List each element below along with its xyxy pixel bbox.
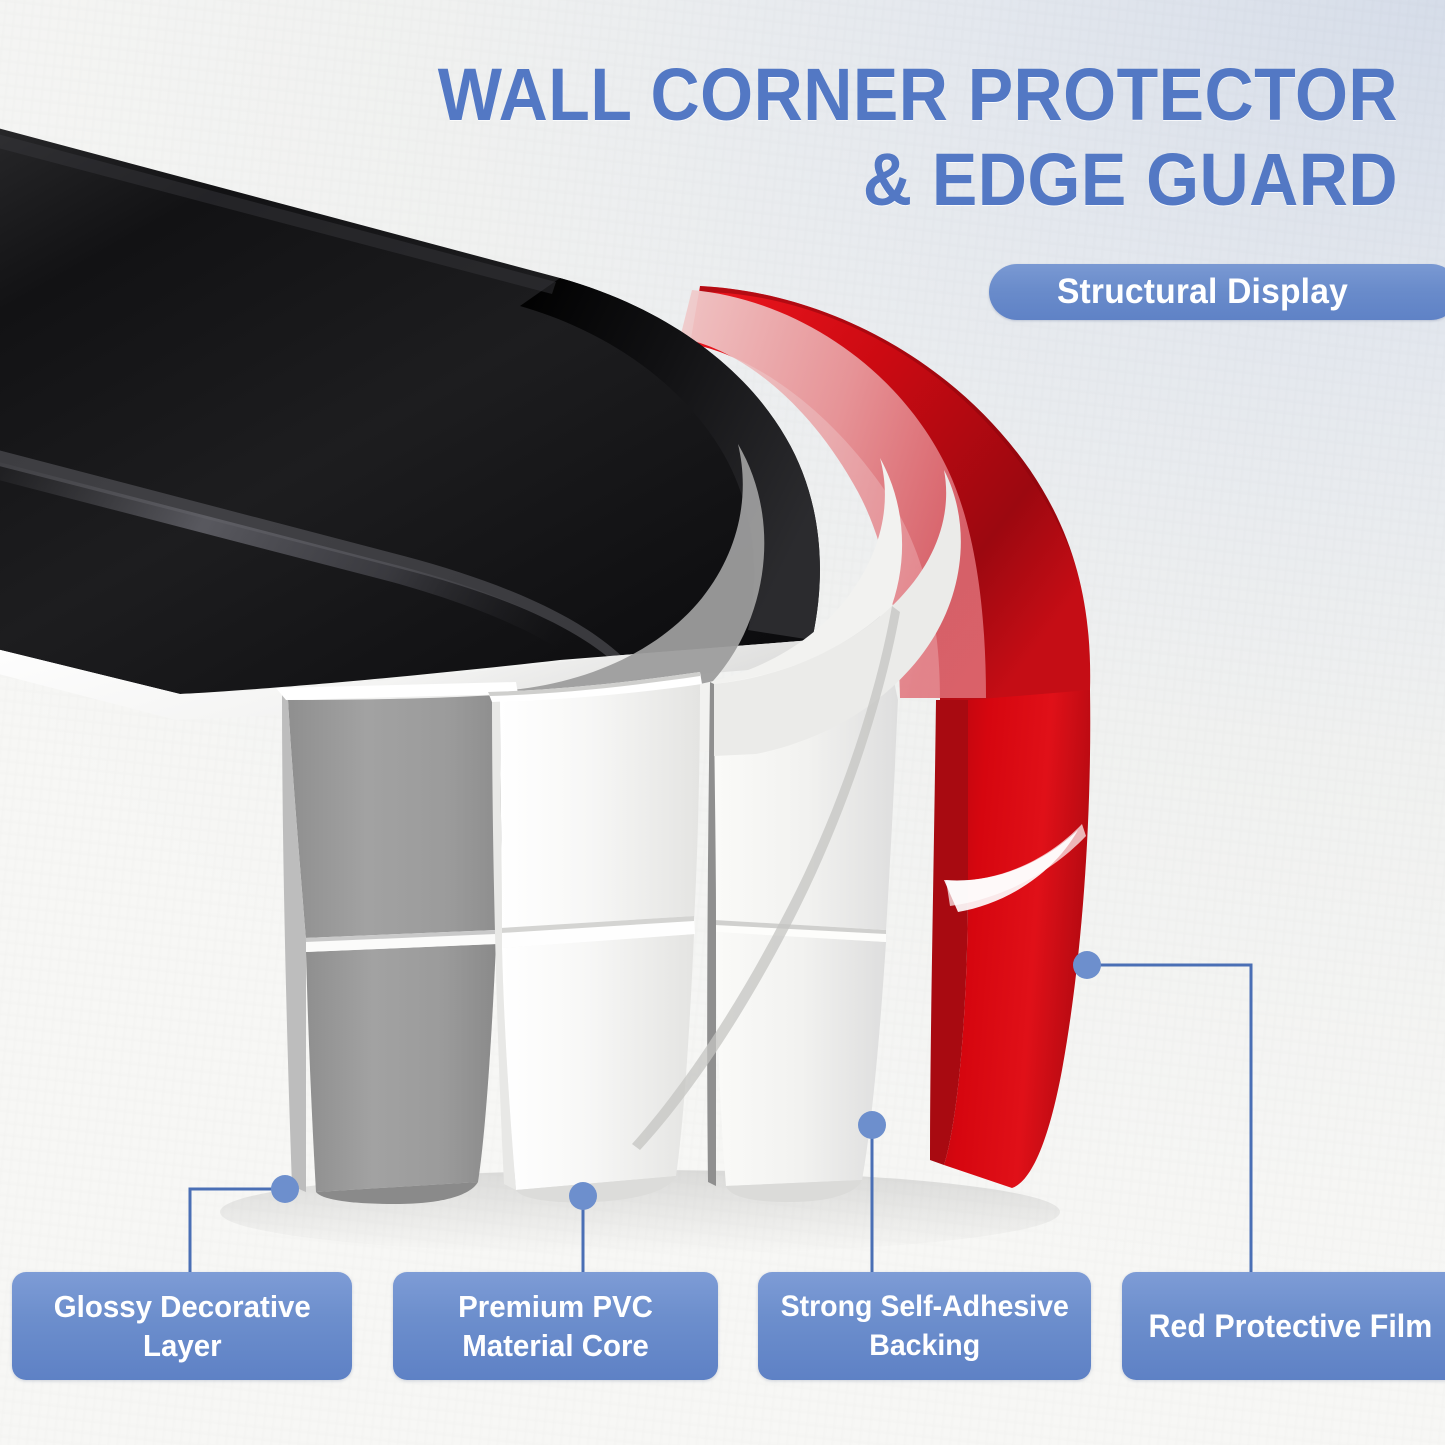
callout-strong-self-adhesive-backing-line-2: Backing [775,1326,1075,1365]
callout-premium-pvc-material-core: Premium PVC Material Core [393,1272,718,1380]
callout-red-protective-film-line-1: Red Protective Film [1142,1307,1437,1346]
structural-display-badge-label: Structural Display [1057,272,1390,312]
callout-glossy-decorative-layer-line-1: Glossy Decorative [48,1287,316,1326]
leader-dot-premium-pvc [569,1182,597,1210]
leader-dot-self-adhesive [858,1111,886,1139]
leader-dot-red-film [1073,951,1101,979]
infographic-canvas: WALL CORNER PROTECTOR & EDGE GUARD Struc… [0,0,1445,1445]
callout-strong-self-adhesive-backing: Strong Self-Adhesive Backing [758,1272,1091,1380]
structural-display-badge: Structural Display [989,264,1445,320]
callout-premium-pvc-material-core-line-2: Material Core [452,1326,658,1365]
callout-glossy-decorative-layer-line-2: Layer [48,1326,316,1365]
callout-red-protective-film: Red Protective Film [1122,1272,1445,1380]
product-illustration [0,0,1445,1445]
callout-glossy-decorative-layer: Glossy Decorative Layer [12,1272,352,1380]
callout-strong-self-adhesive-backing-line-1: Strong Self-Adhesive [775,1287,1075,1326]
leader-line-red-film [1087,965,1251,1272]
callout-premium-pvc-material-core-line-1: Premium PVC [452,1287,658,1326]
leader-dot-glossy-decorative-layer [271,1175,299,1203]
